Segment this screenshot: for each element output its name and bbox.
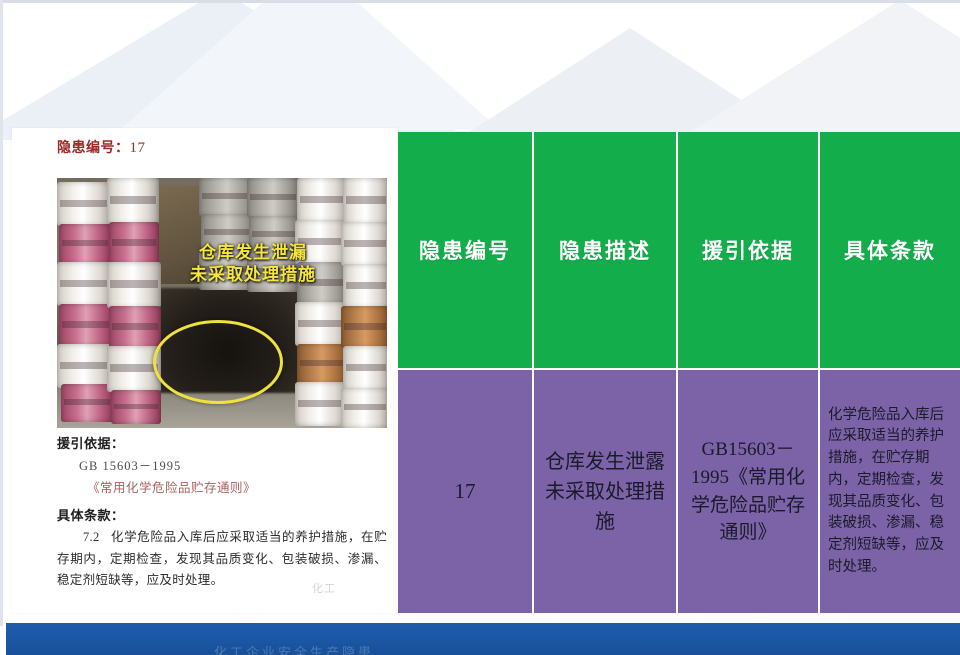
- table-header-row: 隐患编号 隐患描述 援引依据 具体条款: [398, 132, 960, 368]
- table-header-hazard-id: 隐患编号: [398, 132, 534, 368]
- citation-heading: 援引依据：: [57, 433, 387, 452]
- cell-hazard-id: 17: [398, 368, 534, 613]
- clause-heading: 具体条款：: [57, 505, 387, 524]
- photo-caption-line-1: 仓库发生泄漏: [153, 242, 353, 264]
- hazard-table: 隐患编号 隐患描述 援引依据 具体条款 17 仓库发生泄露未采取处理措施 GB1…: [398, 132, 960, 613]
- photo-caption: 仓库发生泄漏 未采取处理措施: [153, 242, 353, 287]
- document-watermark: 化工: [312, 580, 336, 596]
- clause-text: 化学危险品入库后应采取适当的养护措施，在贮存期内，定期检查，发现其品质变化、包装…: [57, 530, 387, 587]
- hazard-id-label: 隐患编号：: [57, 139, 130, 155]
- cell-hazard-description: 仓库发生泄露未采取处理措施: [534, 368, 678, 613]
- hazard-id-value: 17: [130, 140, 146, 156]
- photo-caption-line-2: 未采取处理措施: [153, 264, 353, 286]
- document-text-block: 援引依据： GB 15603－1995 《常用化学危险品贮存通则》 具体条款： …: [57, 433, 387, 592]
- table-header-hazard-description: 隐患描述: [534, 132, 678, 368]
- cell-reference: GB15603－1995《常用化学危险品贮存通则》: [678, 368, 820, 613]
- deco-triangle-b: [120, 0, 500, 130]
- deco-edge-left: [0, 0, 3, 626]
- citation-standard: GB 15603－1995: [79, 455, 387, 474]
- table-row: 17 仓库发生泄露未采取处理措施 GB15603－1995《常用化学危险品贮存通…: [398, 368, 960, 613]
- deco-triangle-c: [460, 28, 800, 138]
- document-panel: 隐患编号：17: [12, 128, 398, 613]
- warehouse-photo: 仓库发生泄漏 未采取处理措施: [57, 178, 387, 428]
- deco-triangle-d: [690, 0, 960, 132]
- citation-title: 《常用化学危险品贮存通则》: [87, 477, 387, 496]
- slide-canvas: 隐患编号：17: [0, 0, 960, 655]
- table-header-clause: 具体条款: [820, 132, 960, 368]
- cell-clause: 化学危险品入库后应采取适当的养护措施，在贮存期内，定期检查，发现其品质变化、包装…: [820, 368, 960, 613]
- leak-highlight-ellipse-icon: [153, 320, 283, 404]
- clause-number: 7.2: [83, 530, 100, 544]
- footer-text: 化工企业安全生产隐患: [214, 642, 374, 655]
- clause-paragraph: 7.2 化学危险品入库后应采取适当的养护措施，在贮存期内，定期检查，发现其品质变…: [57, 527, 387, 592]
- deco-triangle-a: [0, 0, 470, 140]
- footer-bar: 化工企业安全生产隐患: [6, 621, 960, 655]
- hazard-id-line: 隐患编号：17: [57, 137, 146, 157]
- deco-edge-top: [0, 0, 960, 3]
- table-header-reference: 援引依据: [678, 132, 820, 368]
